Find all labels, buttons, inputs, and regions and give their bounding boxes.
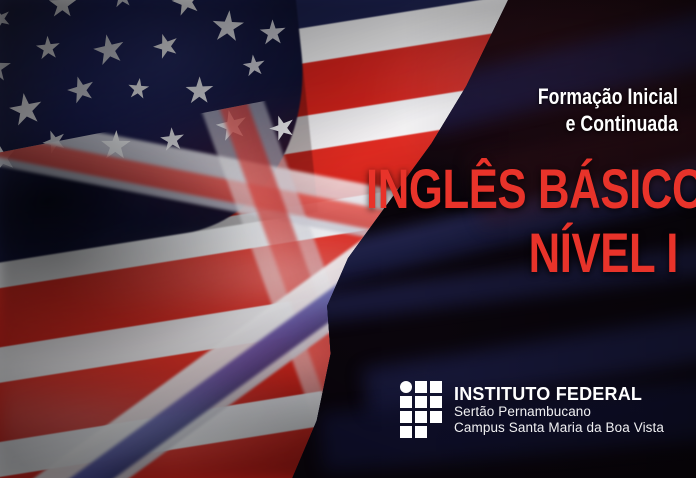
instituto-federal-logo: INSTITUTO FEDERAL Sertão Pernambucano Ca… xyxy=(400,381,664,438)
logo-cell-2-2-square xyxy=(430,411,442,423)
kicker-line-1: Formação Inicial xyxy=(358,84,678,111)
headline-line-1: INGLÊS BÁSICO xyxy=(366,160,678,219)
course-kicker: Formação Inicial e Continuada xyxy=(358,84,678,138)
course-headline: INGLÊS BÁSICO NÍVEL I xyxy=(366,160,678,284)
logo-cell-3-2-empty xyxy=(430,426,442,438)
kicker-line-2: e Continuada xyxy=(358,111,678,138)
logo-cell-3-0-square xyxy=(400,426,412,438)
logo-subtitle-campus-region: Sertão Pernambucano xyxy=(454,404,664,419)
logo-title: INSTITUTO FEDERAL xyxy=(454,384,664,404)
instituto-federal-grid-mark-icon xyxy=(400,381,442,438)
logo-cell-1-0-square xyxy=(400,396,412,408)
logo-cell-1-1-square xyxy=(415,396,427,408)
logo-cell-2-0-square xyxy=(400,411,412,423)
title-block: Formação Inicial e Continuada INGLÊS BÁS… xyxy=(278,84,678,283)
logo-cell-0-2-square xyxy=(430,381,442,393)
poster-canvas: Formação Inicial e Continuada INGLÊS BÁS… xyxy=(0,0,696,478)
logo-cell-2-1-square xyxy=(415,411,427,423)
logo-cell-0-0-circle xyxy=(400,381,412,393)
logo-text-block: INSTITUTO FEDERAL Sertão Pernambucano Ca… xyxy=(454,384,664,434)
logo-cell-1-2-square xyxy=(430,396,442,408)
logo-subtitle-campus-name: Campus Santa Maria da Boa Vista xyxy=(454,420,664,435)
headline-line-2: NÍVEL I xyxy=(366,224,678,283)
logo-cell-0-1-square xyxy=(415,381,427,393)
logo-cell-3-1-square xyxy=(415,426,427,438)
